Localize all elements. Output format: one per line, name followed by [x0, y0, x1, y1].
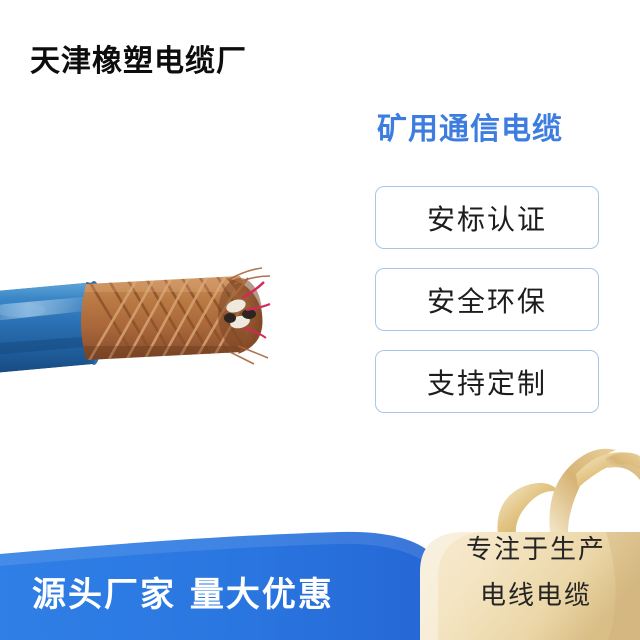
- feature-box-certification[interactable]: 安标认证: [375, 186, 599, 249]
- feature-box-safety[interactable]: 安全环保: [375, 268, 599, 331]
- product-headline: 矿用通信电缆: [377, 104, 563, 148]
- gold-badge-line1: 专注于生产: [438, 529, 634, 566]
- promo-banner: 源头厂家 量大优惠: [0, 530, 470, 640]
- gold-badge-line2: 电线电缆: [438, 575, 634, 612]
- brand-title: 天津橡塑电缆厂: [30, 36, 247, 80]
- feature-list: 安标认证 安全环保 支持定制: [375, 186, 599, 432]
- product-poster: 天津橡塑电缆厂 矿用通信电缆 安标认证 安全环保 支持定制: [0, 0, 640, 640]
- promo-banner-text: 源头厂家 量大优惠: [32, 567, 334, 616]
- feature-label: 支持定制: [427, 362, 547, 402]
- feature-label: 安标认证: [427, 198, 547, 238]
- cable-product-image: [0, 248, 310, 388]
- gold-ribbon-badge: 专注于生产 电线电缆: [410, 440, 640, 640]
- feature-label: 安全环保: [427, 280, 547, 320]
- feature-box-customization[interactable]: 支持定制: [375, 350, 599, 413]
